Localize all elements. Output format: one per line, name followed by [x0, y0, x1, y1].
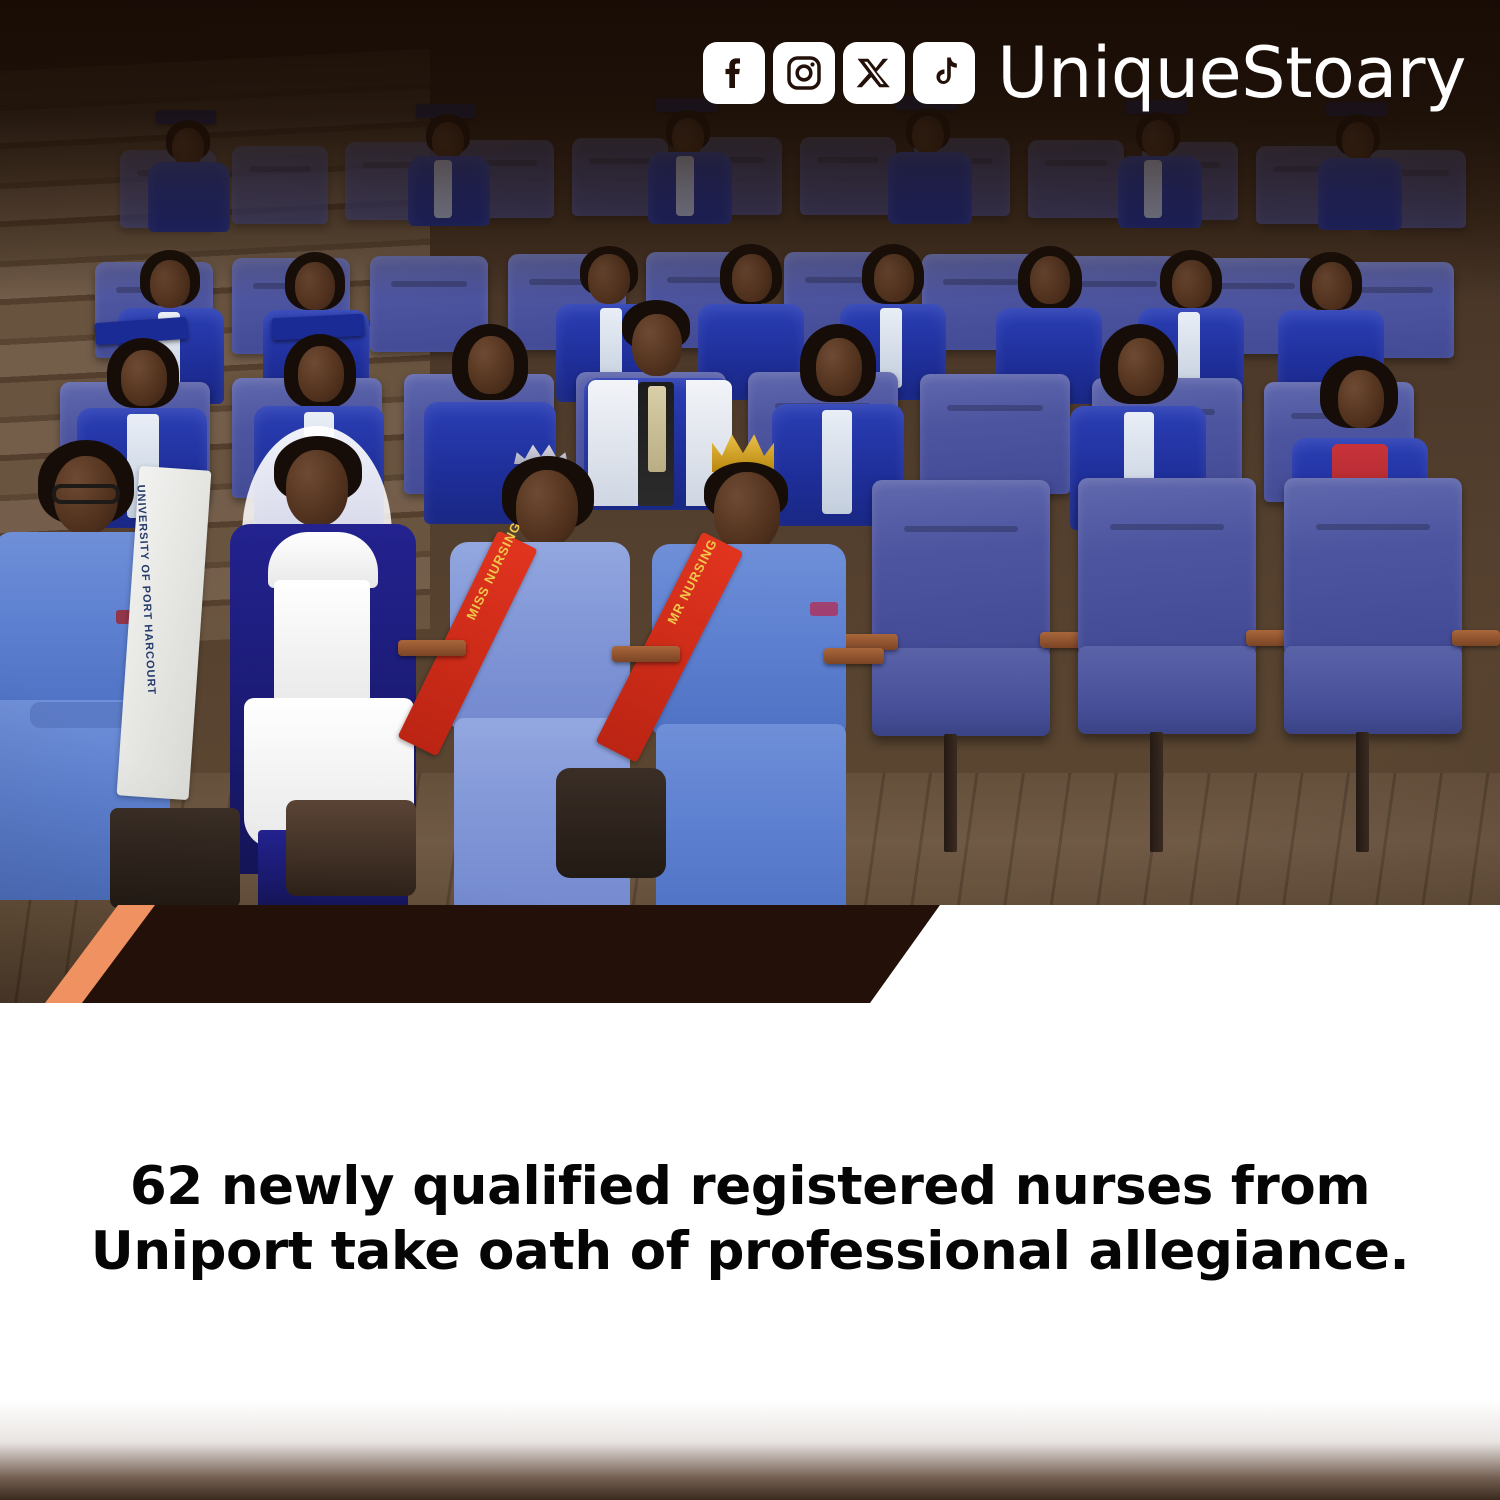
- auditorium-scene: UNIVERSITY OF PORT HARCOURT MISS NURSING: [0, 0, 1500, 1003]
- banner-label: UNIVERSITY OF PORT HARCOURT: [134, 484, 157, 695]
- bottom-gradient: [0, 1400, 1500, 1500]
- social-media-post-card: UNIVERSITY OF PORT HARCOURT MISS NURSING: [0, 0, 1500, 1500]
- x-twitter-icon[interactable]: [843, 42, 905, 104]
- floor-bag: [556, 768, 666, 878]
- news-photo: UNIVERSITY OF PORT HARCOURT MISS NURSING: [0, 0, 1500, 1003]
- caption-headline: 62 newly qualified registered nurses fro…: [18, 1155, 1482, 1284]
- tiktok-icon[interactable]: [913, 42, 975, 104]
- facebook-icon[interactable]: [703, 42, 765, 104]
- brand-watermark: UniqueStoary: [703, 38, 1466, 108]
- eyeglasses-icon: [52, 484, 120, 504]
- instagram-icon[interactable]: [773, 42, 835, 104]
- brand-name: UniqueStoary: [997, 38, 1466, 108]
- caption-block: 62 newly qualified registered nurses fro…: [0, 1155, 1500, 1284]
- floor-bag: [286, 800, 416, 896]
